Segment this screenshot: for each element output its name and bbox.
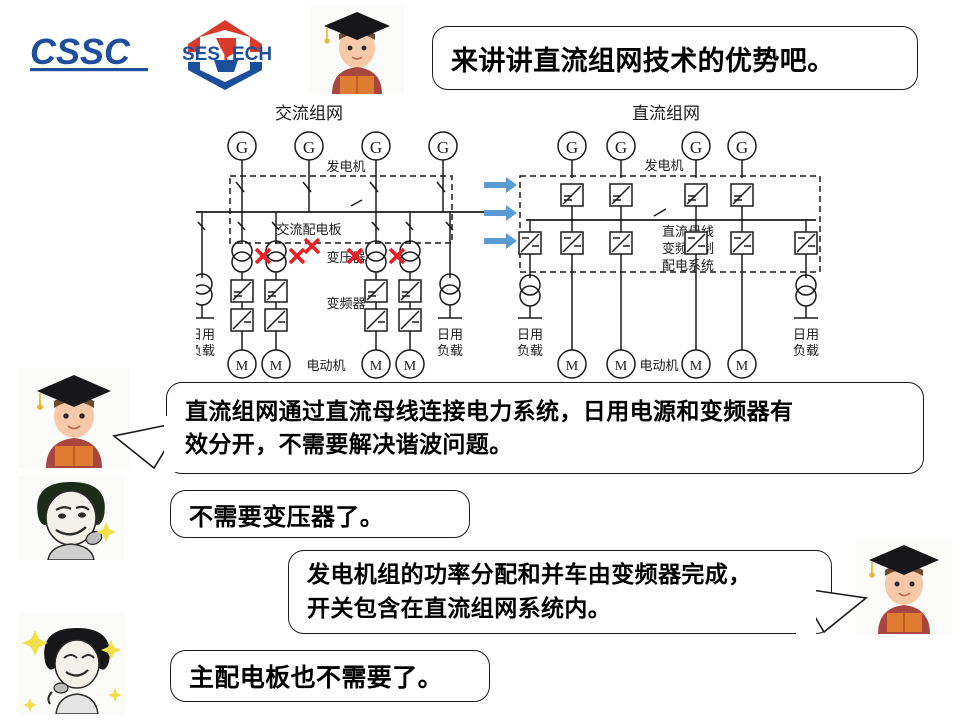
- avatar-figure: [37, 482, 116, 560]
- ac-motor-symbol: M: [270, 359, 283, 374]
- speech-bubble-3[interactable]: 不需要变压器了。: [170, 490, 470, 538]
- bubble-3-line-1: 不需要变压器了。: [189, 497, 469, 532]
- cssc-logo-text: CSSC: [30, 31, 131, 72]
- smug-meme-face-avatar: [18, 476, 124, 560]
- bubble-4-line-2: 开关包含在直流组网系统内。: [307, 592, 817, 627]
- bubble-4-line-1: 发电机组的功率分配和并车由变频器完成，: [307, 558, 817, 593]
- dc-daily-load-label: 负载: [517, 343, 543, 358]
- graduate-student-avatar-right: [856, 538, 952, 634]
- dc-motor-symbol: M: [690, 359, 703, 374]
- ac-motor-label: 电动机: [306, 358, 345, 373]
- ac-network-title: 交流组网: [275, 104, 343, 123]
- ac-generator-symbol: G: [236, 138, 248, 157]
- ac-generator-label: 发电机: [326, 159, 365, 174]
- cssc-logo-underline: [30, 68, 148, 71]
- dc-generator-symbol: G: [690, 138, 702, 157]
- sestech-word-t: T: [220, 44, 232, 65]
- sparkling-kneeling-meme-avatar: [18, 614, 126, 714]
- sestech-logo: SES T ECH: [176, 12, 276, 90]
- ac-motor-symbol: M: [236, 359, 249, 374]
- ac-generator-symbol: G: [370, 138, 382, 157]
- dc-motor-label: 电动机: [639, 358, 678, 373]
- ac-generator-symbol: G: [303, 138, 315, 157]
- ac-daily-load-label: 负载: [196, 343, 215, 358]
- dc-daily-load-label: 日用: [793, 327, 819, 342]
- graduate-student-avatar-left: [18, 368, 130, 468]
- sestech-word-left: SES: [182, 44, 220, 65]
- transition-arrows: [484, 177, 517, 249]
- ac-motor-symbol: M: [370, 359, 383, 374]
- ac-daily-load-label: 日用: [437, 327, 463, 342]
- cssc-logo: CSSC: [28, 26, 158, 76]
- speech-bubble-4[interactable]: 发电机组的功率分配和并车由变频器完成， 开关包含在直流组网系统内。: [288, 550, 832, 634]
- bubble-5-line-1: 主配电板也不需要了。: [189, 658, 489, 694]
- bubble-2-line-1: 直流组网通过直流母线连接电力系统，日用电源和变频器有: [185, 395, 909, 428]
- ac-daily-load-label: 日用: [196, 327, 215, 342]
- dc-generator-label: 发电机: [644, 158, 683, 173]
- dc-motor-symbol: M: [566, 359, 579, 374]
- dc-generator-symbol: G: [615, 138, 627, 157]
- avatar-figure: [324, 12, 390, 94]
- dc-motor-symbol: M: [615, 359, 628, 374]
- ac-generator-symbol: G: [437, 138, 449, 157]
- dc-network-title: 直流组网: [632, 104, 700, 123]
- ac-switchboard-label: 交流配电板: [276, 222, 341, 237]
- ac-motor-symbol: M: [404, 359, 417, 374]
- dc-daily-load-label: 日用: [517, 327, 543, 342]
- dc-system-label: 配电系统: [662, 258, 714, 273]
- dc-generator-symbol: G: [736, 138, 748, 157]
- avatar-figure: [869, 545, 939, 634]
- speech-bubble-5[interactable]: 主配电板也不需要了。: [170, 650, 490, 702]
- bubble-1-line-1: 来讲讲直流组网技术的优势吧。: [451, 39, 917, 78]
- bubble-2-line-2: 效分开，不需要解决谐波问题。: [185, 428, 909, 461]
- dc-motor-symbol: M: [736, 359, 749, 374]
- dc-daily-load-label: 负载: [793, 343, 819, 358]
- dc-vs-ac-grid-diagram: 交流组网 G G G G 发电机 交流配电板: [196, 96, 824, 382]
- avatar-figure: [37, 375, 111, 468]
- sestech-word-right: ECH: [232, 44, 272, 65]
- dc-generator-symbol: G: [566, 138, 578, 157]
- ac-converter-label: 变频器: [326, 296, 365, 311]
- speech-bubble-2[interactable]: 直流组网通过直流母线连接电力系统，日用电源和变频器有 效分开，不需要解决谐波问题…: [166, 382, 924, 474]
- speech-bubble-1[interactable]: 来讲讲直流组网技术的优势吧。: [432, 26, 918, 90]
- dc-rectifier-symbol: [561, 184, 753, 206]
- ac-daily-load-label: 负载: [437, 343, 463, 358]
- graduate-student-avatar-top: [310, 6, 404, 94]
- avatar-figure: [22, 628, 122, 714]
